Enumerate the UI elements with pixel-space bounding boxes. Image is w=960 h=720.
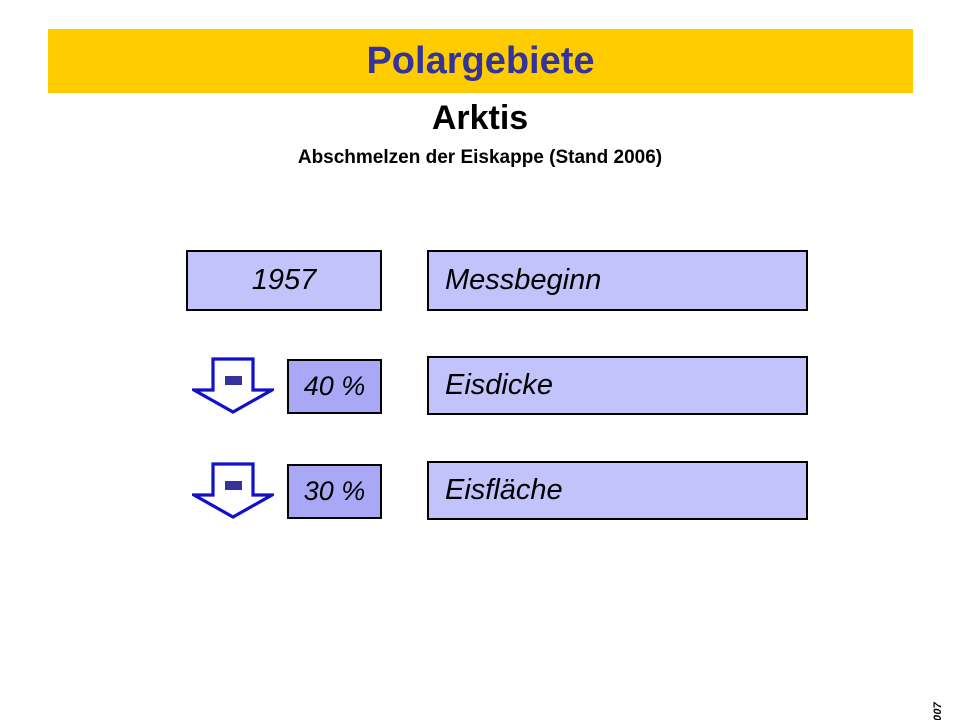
- percent-box-eisflaeche: 30 %: [287, 464, 382, 519]
- slide-canvas: Polargebiete Arktis Abschmelzen der Eisk…: [0, 0, 960, 720]
- percent-box-eisdicke: 40 %: [287, 359, 382, 414]
- page-title: Polargebiete: [366, 42, 594, 80]
- year-value: 1957: [252, 264, 317, 297]
- subtitle-description: Abschmelzen der Eiskappe (Stand 2006): [0, 148, 960, 169]
- label-text: Eisdicke: [445, 369, 553, 402]
- label-text: Eisfläche: [445, 474, 563, 507]
- minus-down-arrow-icon: [192, 357, 274, 415]
- label-box-eisdicke: Eisdicke: [427, 356, 808, 415]
- year-box: 1957: [186, 250, 382, 311]
- label-box-messbeginn: Messbeginn: [427, 250, 808, 311]
- copyright-notice: © Al Gore 2006 / J. Martin 2007: [932, 702, 944, 720]
- label-box-eisflaeche: Eisfläche: [427, 461, 808, 520]
- minus-down-arrow-icon: [192, 462, 274, 520]
- label-text: Messbeginn: [445, 264, 601, 297]
- percent-value: 30 %: [304, 476, 366, 507]
- title-banner: Polargebiete: [48, 29, 913, 93]
- subtitle-heading: Arktis: [0, 100, 960, 137]
- percent-value: 40 %: [304, 371, 366, 402]
